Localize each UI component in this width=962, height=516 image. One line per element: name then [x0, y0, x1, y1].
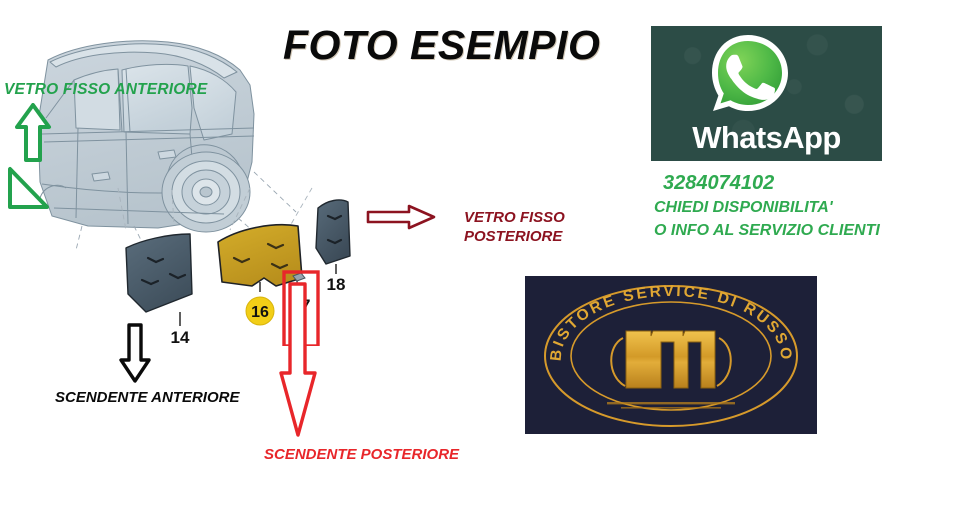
page-title: FOTO ESEMPIO	[283, 22, 613, 69]
callout-label-scendente-anteriore: SCENDENTE ANTERIORE	[55, 389, 285, 406]
up-arrow-green-icon	[14, 103, 52, 163]
callout-label-vetro-fisso-posteriore: VETRO FISSO POSTERIORE	[464, 208, 634, 246]
poster-canvas: FOTO ESEMPIO VETRO FISSO ANTERIORE	[0, 0, 962, 516]
callout-label-vetro-fisso-anteriore: VETRO FISSO ANTERIORE	[4, 81, 234, 99]
phone-number: 3284074102	[663, 172, 903, 195]
right-arrow-maroon-icon	[366, 203, 436, 231]
whatsapp-wordmark: WhatsApp	[651, 120, 882, 156]
svg-text:16: 16	[251, 304, 269, 321]
svg-text:14: 14	[171, 328, 190, 346]
whatsapp-banner: WhatsApp	[651, 26, 882, 161]
contact-line-1: CHIEDI DISPONIBILITA'	[654, 199, 914, 217]
callout-line-2: POSTERIORE	[464, 227, 634, 246]
callout-label-scendente-posteriore: SCENDENTE POSTERIORE	[264, 446, 494, 463]
down-arrow-red-icon	[278, 281, 318, 439]
triangle-outline-green-icon	[6, 166, 50, 210]
whatsapp-icon	[704, 31, 792, 119]
down-arrow-black-icon	[118, 322, 152, 384]
shop-logo: MRICAMBISTORE SERVICE DI RUSSO MARCO	[525, 276, 817, 434]
svg-text:18: 18	[327, 275, 346, 294]
callout-line-1: VETRO FISSO	[464, 208, 634, 227]
contact-line-2: O INFO AL SERVIZIO CLIENTI	[654, 222, 934, 240]
